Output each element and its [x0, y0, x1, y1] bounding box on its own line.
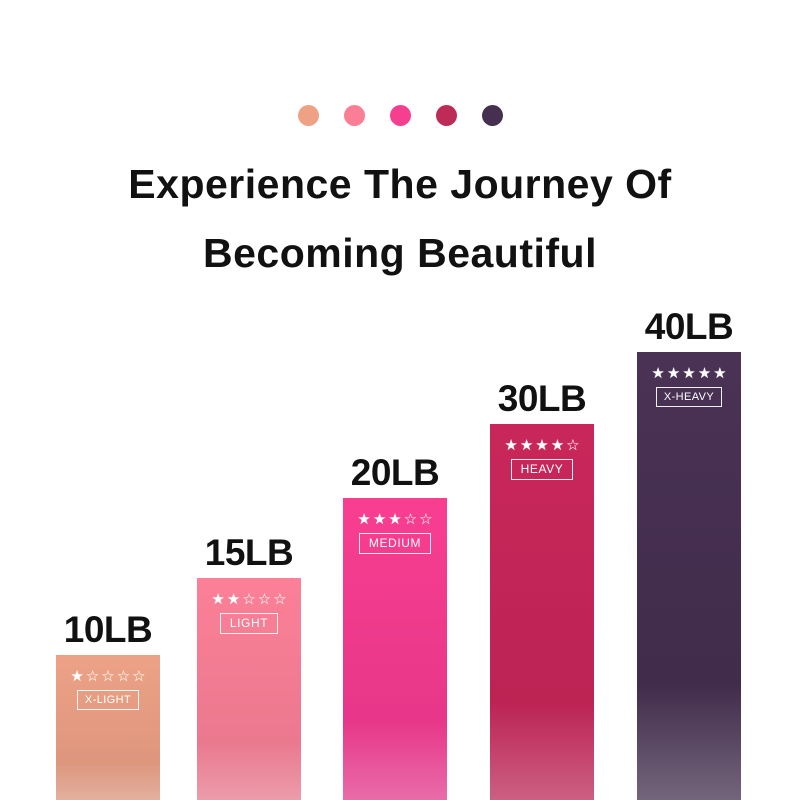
star-filled-icon: ★	[388, 512, 401, 527]
bar-content-30lb: ★★★★☆HEAVY	[490, 438, 594, 480]
star-rating-15lb: ★★☆☆☆	[211, 592, 286, 607]
star-empty-icon: ☆	[273, 592, 286, 607]
star-filled-icon: ★	[211, 592, 224, 607]
resistance-badge-10lb: X-LIGHT	[77, 690, 139, 710]
star-empty-icon: ☆	[258, 592, 271, 607]
bar-group-20lb[interactable]: 20LB★★★☆☆MEDIUM	[343, 498, 447, 800]
star-filled-icon: ★	[520, 438, 533, 453]
resistance-bar-chart: 10LB★☆☆☆☆X-LIGHT15LB★★☆☆☆LIGHT20LB★★★☆☆M…	[0, 0, 800, 800]
bar-content-10lb: ★☆☆☆☆X-LIGHT	[56, 669, 160, 710]
star-rating-10lb: ★☆☆☆☆	[70, 669, 145, 684]
bar-group-15lb[interactable]: 15LB★★☆☆☆LIGHT	[197, 578, 301, 800]
bar-20lb: ★★★☆☆MEDIUM	[343, 498, 447, 800]
star-empty-icon: ☆	[566, 438, 579, 453]
star-filled-icon: ★	[373, 512, 386, 527]
resistance-badge-40lb: X-HEAVY	[656, 387, 722, 407]
bar-15lb: ★★☆☆☆LIGHT	[197, 578, 301, 800]
star-filled-icon: ★	[535, 438, 548, 453]
star-filled-icon: ★	[698, 366, 711, 381]
star-filled-icon: ★	[667, 366, 680, 381]
star-rating-20lb: ★★★☆☆	[357, 512, 432, 527]
star-filled-icon: ★	[70, 669, 83, 684]
bar-value-label-40lb: 40LB	[645, 306, 733, 348]
bar-content-40lb: ★★★★★X-HEAVY	[637, 366, 741, 407]
star-rating-30lb: ★★★★☆	[504, 438, 579, 453]
product-infographic: Experience The Journey Of Becoming Beaut…	[0, 0, 800, 800]
star-empty-icon: ☆	[419, 512, 432, 527]
resistance-badge-15lb: LIGHT	[220, 613, 278, 634]
resistance-badge-30lb: HEAVY	[511, 459, 574, 480]
star-filled-icon: ★	[682, 366, 695, 381]
bar-content-20lb: ★★★☆☆MEDIUM	[343, 512, 447, 554]
bar-group-10lb[interactable]: 10LB★☆☆☆☆X-LIGHT	[56, 655, 160, 800]
star-empty-icon: ☆	[117, 669, 130, 684]
bar-group-40lb[interactable]: 40LB★★★★★X-HEAVY	[637, 352, 741, 800]
bar-value-label-30lb: 30LB	[498, 378, 586, 420]
bar-value-label-15lb: 15LB	[205, 532, 293, 574]
bar-group-30lb[interactable]: 30LB★★★★☆HEAVY	[490, 424, 594, 800]
bar-value-label-10lb: 10LB	[64, 609, 152, 651]
star-empty-icon: ☆	[132, 669, 145, 684]
bar-30lb: ★★★★☆HEAVY	[490, 424, 594, 800]
bar-value-label-20lb: 20LB	[351, 452, 439, 494]
star-filled-icon: ★	[713, 366, 726, 381]
star-filled-icon: ★	[551, 438, 564, 453]
star-filled-icon: ★	[227, 592, 240, 607]
star-empty-icon: ☆	[86, 669, 99, 684]
star-filled-icon: ★	[504, 438, 517, 453]
star-empty-icon: ☆	[242, 592, 255, 607]
star-filled-icon: ★	[357, 512, 370, 527]
bar-40lb: ★★★★★X-HEAVY	[637, 352, 741, 800]
star-empty-icon: ☆	[101, 669, 114, 684]
star-empty-icon: ☆	[404, 512, 417, 527]
resistance-badge-20lb: MEDIUM	[359, 533, 431, 554]
bar-content-15lb: ★★☆☆☆LIGHT	[197, 592, 301, 634]
star-filled-icon: ★	[651, 366, 664, 381]
star-rating-40lb: ★★★★★	[651, 366, 726, 381]
bar-10lb: ★☆☆☆☆X-LIGHT	[56, 655, 160, 800]
